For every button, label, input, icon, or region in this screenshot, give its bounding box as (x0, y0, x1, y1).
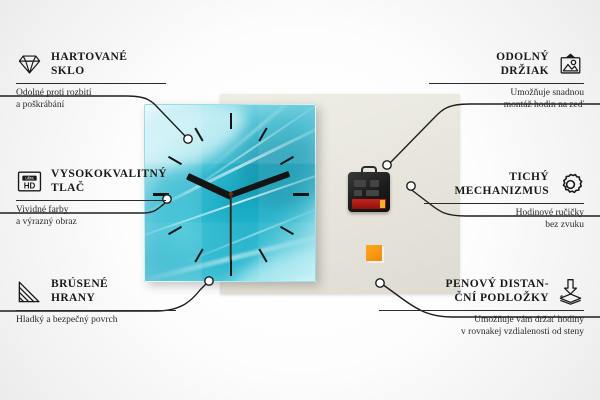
hour-tick-12 (230, 113, 232, 129)
hour-tick-3 (293, 193, 309, 196)
sanded-edge-icon (16, 278, 43, 305)
mechanism-detail (370, 180, 379, 187)
picture-hanger-icon (557, 51, 584, 78)
clock-mechanism (348, 172, 390, 212)
feature-title: PENOVÝ DISTAN- ČNÍ PODLOŽKY (446, 277, 549, 305)
feature-description: Umožňuje snadnou montáž hodin na zeď (429, 88, 584, 111)
feature-callout-tempered-glass: HARTOVANÉ SKLO Odolné proti rozbití a po… (16, 50, 166, 111)
mechanism-hanger-icon (361, 166, 377, 176)
feature-title: HARTOVANÉ SKLO (51, 50, 127, 78)
divider (16, 83, 166, 84)
feature-title: VYSOKOKVALITNÝ TLAČ (51, 167, 167, 195)
second-hand (230, 194, 232, 262)
foam-spacer-pad (366, 245, 382, 261)
hour-tick-6 (230, 260, 232, 276)
feature-title: ODOLNÝ DRŽIAK (496, 50, 549, 78)
feature-description: Hladký a bezpečný povrch (16, 315, 176, 327)
feature-description: Hodinové ručičky bez zvuku (424, 208, 584, 231)
ultra-label: ultra (25, 175, 34, 180)
mechanism-detail (354, 190, 362, 196)
mechanism-detail (366, 190, 379, 196)
mechanism-detail (354, 180, 366, 187)
feature-callout-silent-mechanism: TICHÝ MECHANIZMUS Hodinové ručičky bez z… (424, 170, 584, 231)
feature-title: BRÚSENÉ HRANY (51, 277, 108, 305)
divider (379, 310, 584, 311)
stacked-layers-arrow-icon (557, 278, 584, 305)
feature-callout-high-quality-print: ultra HD VYSOKOKVALITNÝ TLAČ Vividné far… (16, 167, 166, 228)
wall-clock-face (144, 104, 316, 282)
clock-center-pin (229, 192, 233, 196)
diamond-icon (16, 51, 43, 78)
battery (352, 199, 386, 209)
feature-description: Vividné farby a výrazný obraz (16, 205, 166, 228)
feature-callout-sanded-edges: BRÚSENÉ HRANY Hladký a bezpečný povrch (16, 277, 176, 327)
divider (424, 203, 584, 204)
feature-title: TICHÝ MECHANIZMUS (455, 170, 550, 198)
hd-label: HD (24, 181, 36, 190)
feature-callout-durable-hanger: ODOLNÝ DRŽIAK Umožňuje snadnou montáž ho… (429, 50, 584, 111)
feature-description: Umožňuje vám držať hodiny v rovnakej vzd… (379, 315, 584, 338)
divider (16, 200, 166, 201)
gear-icon (557, 171, 584, 198)
infographic-stage: HARTOVANÉ SKLO Odolné proti rozbití a po… (0, 0, 600, 400)
divider (429, 83, 584, 84)
ultra-hd-icon: ultra HD (16, 168, 43, 195)
feature-description: Odolné proti rozbití a poškrábání (16, 88, 166, 111)
divider (16, 310, 176, 311)
feature-callout-foam-spacers: PENOVÝ DISTAN- ČNÍ PODLOŽKY Umožňuje vám… (379, 277, 584, 338)
